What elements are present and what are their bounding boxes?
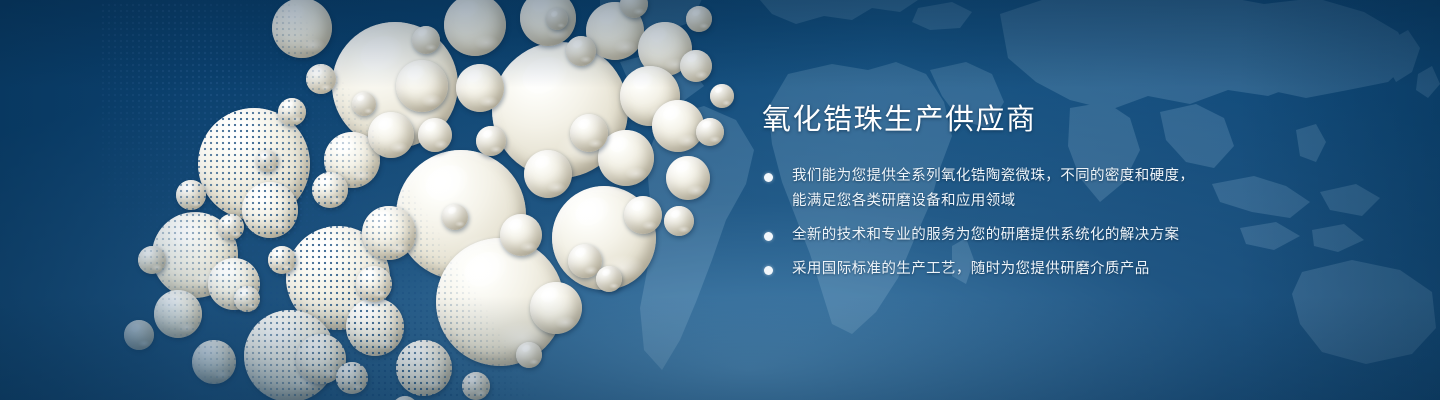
feature-bullet-list: 我们能为您提供全系列氧化锆陶瓷微珠，不同的密度和硬度， 能满足您各类研磨设备和应… bbox=[762, 164, 1322, 282]
bullet-dot-icon bbox=[764, 173, 773, 182]
bullet-line-1: 采用国际标准的生产工艺，随时为您提供研磨介质产品 bbox=[792, 261, 1150, 277]
list-item: 全新的技术和专业的服务为您的研磨提供系统化的解决方案 bbox=[762, 223, 1322, 248]
banner-copy: 氧化锆珠生产供应商 我们能为您提供全系列氧化锆陶瓷微珠，不同的密度和硬度， 能满… bbox=[762, 104, 1322, 282]
list-item: 我们能为您提供全系列氧化锆陶瓷微珠，不同的密度和硬度， 能满足您各类研磨设备和应… bbox=[762, 164, 1322, 214]
bullet-line-1: 全新的技术和专业的服务为您的研磨提供系统化的解决方案 bbox=[792, 227, 1179, 243]
hero-banner: 氧化锆珠生产供应商 我们能为您提供全系列氧化锆陶瓷微珠，不同的密度和硬度， 能满… bbox=[0, 0, 1440, 400]
bullet-line-2: 能满足您各类研磨设备和应用领域 bbox=[792, 189, 1322, 214]
list-item: 采用国际标准的生产工艺，随时为您提供研磨介质产品 bbox=[762, 257, 1322, 282]
page-title: 氧化锆珠生产供应商 bbox=[762, 104, 1322, 136]
bullet-line-1: 我们能为您提供全系列氧化锆陶瓷微珠，不同的密度和硬度， bbox=[792, 168, 1194, 184]
bullet-dot-icon bbox=[764, 232, 773, 241]
bullet-dot-icon bbox=[764, 266, 773, 275]
